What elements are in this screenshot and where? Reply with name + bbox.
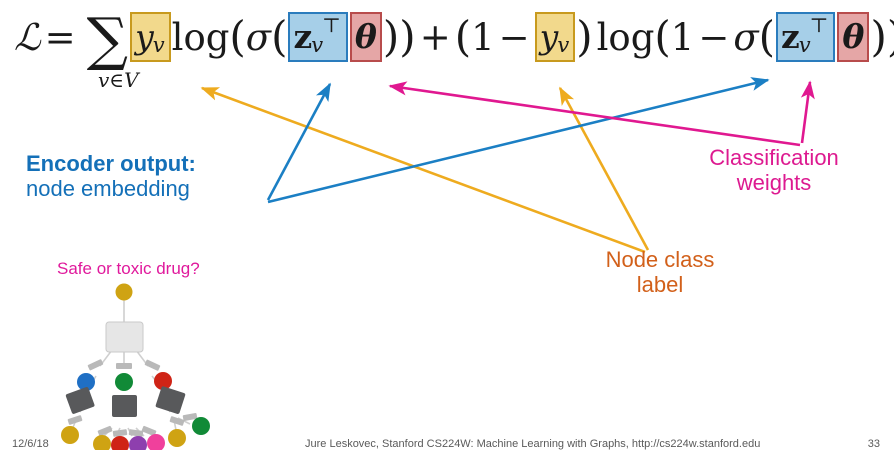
- footer-date: 12/6/18: [12, 438, 49, 450]
- paren-open-4: (: [654, 16, 670, 58]
- slide-footer: 12/6/18 Jure Leskovec, Stanford CS224W: …: [0, 436, 894, 457]
- z-symbol-2: z: [781, 20, 800, 53]
- transpose-mark-2: ⊤: [810, 15, 829, 35]
- graph-node-green: [115, 373, 133, 391]
- y-subscript: v: [153, 35, 165, 56]
- theta-symbol: θ: [355, 20, 377, 53]
- callout-classification-line1: Classification: [668, 146, 880, 171]
- paren-close-1: ): [383, 16, 399, 58]
- z-symbol: z: [293, 20, 312, 53]
- y-symbol: y: [135, 20, 154, 53]
- footer-page-number: 33: [868, 438, 880, 450]
- equals-sign: =: [45, 19, 76, 56]
- highlight-theta-first: θ: [350, 12, 382, 62]
- slide-canvas: ℒ = ∑ yv log ( σ ( zv⊤ θ ) ) + ( 1 − yv: [0, 0, 894, 457]
- y-subscript-2: v: [557, 35, 569, 56]
- paren-close-2: ): [399, 16, 415, 58]
- callout-classification-line2: weights: [668, 171, 880, 196]
- paren-open-5: (: [759, 16, 775, 58]
- footer-attribution: Jure Leskovec, Stanford CS224W: Machine …: [305, 438, 760, 450]
- paren-open-1: (: [229, 16, 245, 58]
- theta-symbol-2: θ: [842, 20, 864, 53]
- highlight-theta-second: θ: [837, 12, 869, 62]
- sigma-second: σ: [733, 19, 758, 56]
- callout-encoder-output: Encoder output: node embedding: [26, 152, 196, 201]
- highlight-y-second: yv: [535, 12, 576, 62]
- callout-node-class-line2: label: [560, 273, 760, 298]
- highlight-y-first: yv: [130, 12, 171, 62]
- log-first: log: [172, 19, 230, 56]
- formula-row: ℒ = ∑ yv log ( σ ( zv⊤ θ ) ) + ( 1 − yv: [14, 12, 894, 62]
- graph-node-root-gold: [116, 284, 133, 301]
- graph-leaf-green: [192, 417, 210, 435]
- arrow-node-class-right: [560, 88, 648, 250]
- graph-box-right-dark: [155, 386, 186, 415]
- log-second: log: [597, 19, 655, 56]
- minus-sign-2: −: [698, 19, 729, 56]
- callout-node-class-label: Node class label: [560, 248, 760, 297]
- paren-open-2: (: [271, 16, 287, 58]
- paren-close-5: ): [887, 16, 894, 58]
- graph-box-root: [106, 322, 143, 352]
- highlight-z-first: zv⊤: [288, 12, 347, 62]
- paren-close-4: ): [870, 16, 886, 58]
- highlight-z-second: zv⊤: [776, 12, 835, 62]
- sigma-first: σ: [246, 19, 271, 56]
- arrow-node-class-left: [202, 88, 645, 252]
- gnn-computation-graph: [50, 278, 250, 450]
- callout-encoder-line2: node embedding: [26, 177, 196, 202]
- transpose-mark: ⊤: [322, 15, 341, 35]
- loss-formula: ℒ = ∑ yv log ( σ ( zv⊤ θ ) ) + ( 1 − yv: [0, 6, 894, 102]
- z-subscript-2: v: [799, 35, 811, 56]
- callout-encoder-line1: Encoder output:: [26, 152, 196, 177]
- paren-open-3: (: [455, 16, 471, 58]
- figure-caption: Safe or toxic drug?: [57, 259, 200, 278]
- callout-node-class-line1: Node class: [560, 248, 760, 273]
- paren-close-3: ): [576, 16, 592, 58]
- plus-sign: +: [420, 19, 451, 56]
- loss-symbol: ℒ: [14, 19, 41, 56]
- y-symbol-2: y: [540, 20, 559, 53]
- summation-symbol: ∑: [87, 16, 128, 62]
- graph-box-left-dark: [65, 386, 95, 414]
- callout-classification-weights: Classification weights: [668, 146, 880, 195]
- minus-sign-1: −: [499, 19, 530, 56]
- one-literal: 1: [471, 19, 495, 56]
- graph-box-center-dark: [112, 395, 137, 417]
- one-literal-2: 1: [671, 19, 695, 56]
- sum-subscript: v∈V: [98, 68, 139, 92]
- z-subscript: v: [311, 35, 323, 56]
